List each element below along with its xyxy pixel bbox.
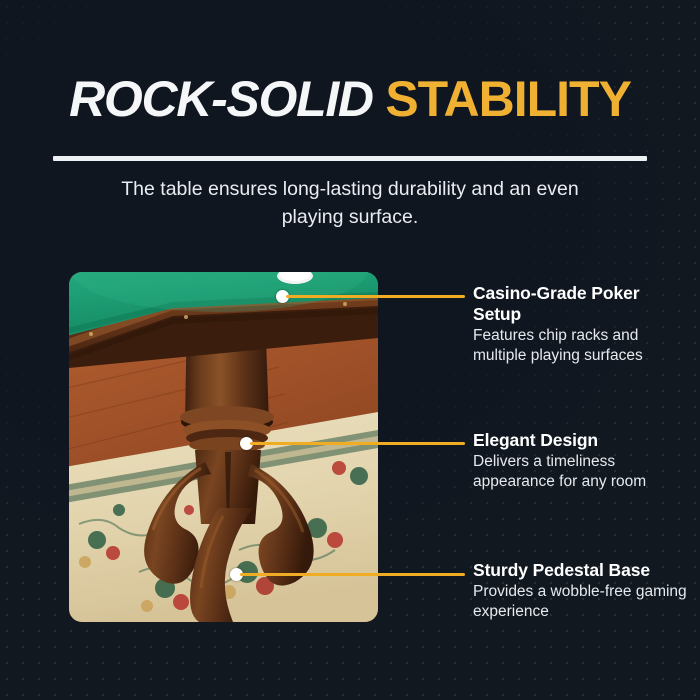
connector-line-1 (286, 295, 465, 298)
poker-table-photo (69, 272, 378, 622)
callout-1-title: Casino-Grade Poker Setup (473, 283, 689, 325)
callout-3-body: Provides a wobble-free gaming experience (473, 582, 689, 621)
callout-2: Elegant Design Delivers a timeliness app… (473, 430, 689, 491)
connector-line-2 (250, 442, 465, 445)
page-subtitle: The table ensures long-lasting durabilit… (100, 176, 600, 231)
callout-3: Sturdy Pedestal Base Provides a wobble-f… (473, 560, 689, 621)
title-divider (53, 156, 647, 161)
page-title-accent: STABILITY (385, 71, 631, 127)
infographic-canvas: ROCK-SOLID STABILITY The table ensures l… (0, 0, 700, 700)
page-title-primary: ROCK-SOLID (69, 71, 373, 127)
callout-2-title: Elegant Design (473, 430, 689, 451)
callout-1-body: Features chip racks and multiple playing… (473, 326, 689, 365)
callout-1: Casino-Grade Poker Setup Features chip r… (473, 283, 689, 365)
callout-3-title: Sturdy Pedestal Base (473, 560, 689, 581)
callout-2-body: Delivers a timeliness appearance for any… (473, 452, 689, 491)
connector-line-3 (240, 573, 465, 576)
page-title: ROCK-SOLID STABILITY (0, 74, 700, 124)
